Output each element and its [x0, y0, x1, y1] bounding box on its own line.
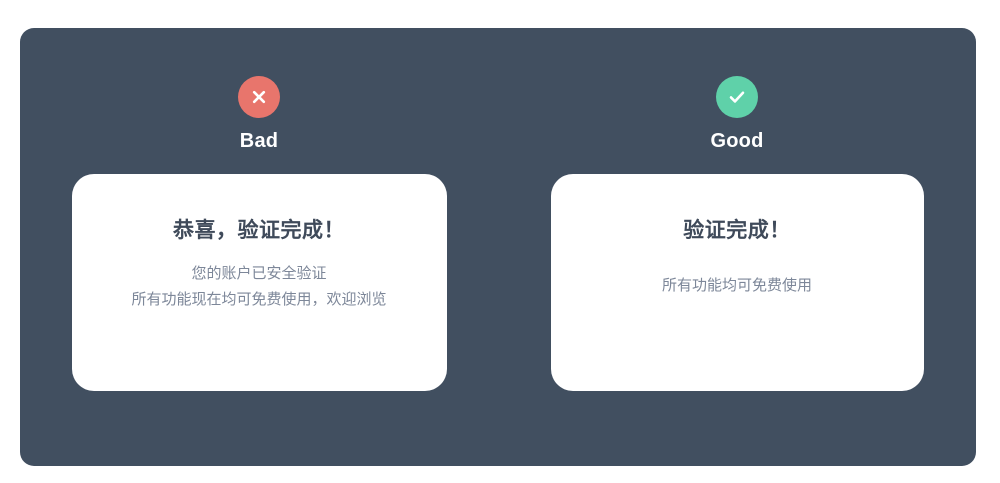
check-circle-icon	[716, 76, 758, 118]
status-label-good: Good	[710, 131, 763, 151]
card-body-good: 所有功能均可免费使用	[662, 273, 812, 299]
card-title-good: 验证完成！	[683, 218, 791, 243]
close-circle-icon	[238, 76, 280, 118]
example-card-bad: 恭喜，验证完成！ 您的账户已安全验证 所有功能现在均可免费使用，欢迎浏览	[72, 174, 447, 391]
status-badge-good: Good	[710, 76, 763, 151]
status-label-bad: Bad	[240, 131, 278, 151]
example-card-good: 验证完成！ 所有功能均可免费使用	[551, 174, 924, 391]
status-badge-bad: Bad	[238, 76, 280, 151]
screenshot-root: Bad 恭喜，验证完成！ 您的账户已安全验证 所有功能现在均可免费使用，欢迎浏览…	[0, 0, 1000, 483]
card-title-bad: 恭喜，验证完成！	[173, 218, 345, 243]
card-body-line: 您的账户已安全验证	[131, 261, 386, 287]
card-body-bad: 您的账户已安全验证 所有功能现在均可免费使用，欢迎浏览	[131, 261, 386, 313]
comparison-column-good: Good 验证完成！ 所有功能均可免费使用	[498, 28, 976, 466]
card-body-line: 所有功能均可免费使用	[662, 273, 812, 299]
comparison-column-bad: Bad 恭喜，验证完成！ 您的账户已安全验证 所有功能现在均可免费使用，欢迎浏览	[20, 28, 498, 466]
card-body-line: 所有功能现在均可免费使用，欢迎浏览	[131, 287, 386, 313]
comparison-panel: Bad 恭喜，验证完成！ 您的账户已安全验证 所有功能现在均可免费使用，欢迎浏览…	[20, 28, 976, 466]
